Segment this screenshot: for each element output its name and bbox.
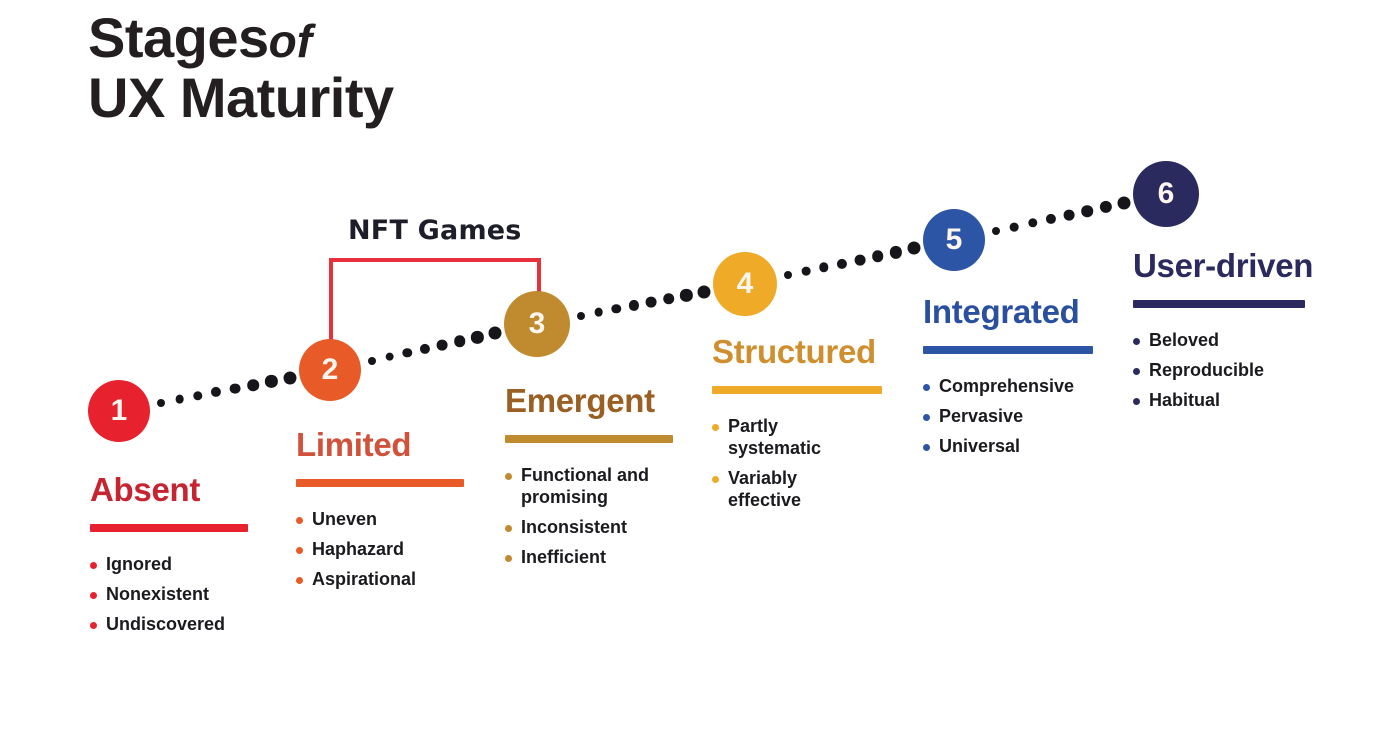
stage-circle-5[interactable]: 5 <box>923 209 985 271</box>
bullet-text: Inefficient <box>521 547 606 567</box>
trend-dot <box>265 375 277 387</box>
stage-rule-6 <box>1133 300 1305 308</box>
infographic-canvas: Stagesof UX Maturity NFT Games 1 2 3 4 5… <box>0 0 1400 740</box>
stage-heading-2: Limited <box>296 428 486 461</box>
trend-dot <box>385 352 394 361</box>
list-item: Partly systematic <box>712 416 840 460</box>
bracket-top-segment <box>329 258 541 262</box>
stage-number-5: 5 <box>946 225 963 255</box>
list-item: Uneven <box>296 509 486 531</box>
trend-dot <box>402 348 411 357</box>
bullet-text: Beloved <box>1149 330 1219 350</box>
trend-dot <box>175 395 184 404</box>
trend-dot <box>802 267 811 276</box>
trend-dot <box>663 293 675 305</box>
stage-heading-3: Emergent <box>505 384 705 417</box>
trend-dot <box>454 335 466 347</box>
stage-rule-3 <box>505 435 673 443</box>
list-item: Ignored <box>90 554 280 576</box>
bullet-text: Haphazard <box>312 539 404 559</box>
bullet-text: Ignored <box>106 554 172 574</box>
stage-block-1: Absent Ignored Nonexistent Undiscovered <box>90 473 280 644</box>
trend-dot <box>1082 205 1094 217</box>
trend-dot <box>420 344 430 354</box>
stage-bullets-5: Comprehensive Pervasive Universal <box>923 376 1123 458</box>
stage-circle-3[interactable]: 3 <box>504 291 570 357</box>
stage-heading-4: Structured <box>712 335 912 368</box>
trend-dot <box>211 387 221 397</box>
stage-block-5: Integrated Comprehensive Pervasive Unive… <box>923 295 1123 466</box>
stage-number-1: 1 <box>111 396 128 426</box>
trend-dot <box>1117 197 1130 210</box>
page-title: Stagesof UX Maturity <box>88 8 648 129</box>
stage-number-4: 4 <box>737 269 754 299</box>
bullet-text: Functional and promising <box>521 465 649 507</box>
stage-block-6: User-driven Beloved Reproducible Habitua… <box>1133 249 1343 420</box>
trend-dot <box>907 242 920 255</box>
list-item: Inefficient <box>505 547 705 569</box>
list-item: Habitual <box>1133 390 1343 412</box>
stage-heading-1: Absent <box>90 473 280 506</box>
trend-dot <box>471 331 483 343</box>
bullet-text: Uneven <box>312 509 377 529</box>
stage-number-3: 3 <box>529 309 546 339</box>
list-item: Comprehensive <box>923 376 1123 398</box>
title-line1-main: Stages <box>88 6 269 69</box>
trend-dot <box>1028 218 1037 227</box>
bullet-text: Variably effective <box>728 468 801 510</box>
stage-rule-4 <box>712 386 882 394</box>
trend-dot <box>247 379 259 391</box>
bullet-text: Universal <box>939 436 1020 456</box>
title-line2: UX Maturity <box>88 68 648 128</box>
bullet-text: Inconsistent <box>521 517 627 537</box>
stage-rule-1 <box>90 524 248 532</box>
stage-block-3: Emergent Functional and promising Incons… <box>505 384 705 577</box>
trend-dot <box>229 383 240 394</box>
stage-bullets-4: Partly systematic Variably effective <box>712 416 912 512</box>
bullet-text: Pervasive <box>939 406 1023 426</box>
bracket-left-leg <box>329 258 333 350</box>
trend-dot <box>157 399 165 407</box>
bullet-text: Nonexistent <box>106 584 209 604</box>
trend-dot <box>819 263 828 272</box>
stage-circle-4[interactable]: 4 <box>713 252 777 316</box>
stage-block-4: Structured Partly systematic Variably ef… <box>712 335 912 520</box>
list-item: Universal <box>923 436 1123 458</box>
bullet-text: Partly systematic <box>728 416 821 458</box>
list-item: Beloved <box>1133 330 1343 352</box>
stage-circle-1[interactable]: 1 <box>88 380 150 442</box>
stage-circle-6[interactable]: 6 <box>1133 161 1199 227</box>
trend-dot <box>855 254 866 265</box>
trend-dot <box>577 312 585 320</box>
bullet-text: Habitual <box>1149 390 1220 410</box>
title-line1-italic: of <box>269 15 312 67</box>
trend-dot <box>611 304 620 313</box>
stage-bullets-1: Ignored Nonexistent Undiscovered <box>90 554 280 636</box>
trend-dot <box>368 357 376 365</box>
bullet-text: Comprehensive <box>939 376 1074 396</box>
bullet-text: Undiscovered <box>106 614 225 634</box>
trend-dot <box>1064 210 1075 221</box>
trend-dot <box>1100 201 1112 213</box>
list-item: Nonexistent <box>90 584 280 606</box>
trend-dot <box>784 271 792 279</box>
trend-dot <box>1046 214 1056 224</box>
list-item: Inconsistent <box>505 517 705 539</box>
stage-circle-2[interactable]: 2 <box>299 339 361 401</box>
stage-heading-5: Integrated <box>923 295 1123 328</box>
stage-bullets-3: Functional and promising Inconsistent In… <box>505 465 705 569</box>
trend-dot <box>697 285 710 298</box>
trend-dot <box>489 327 502 340</box>
list-item: Aspirational <box>296 569 486 591</box>
trend-dot <box>193 391 202 400</box>
trend-dot <box>283 371 296 384</box>
stage-rule-2 <box>296 479 464 487</box>
list-item: Haphazard <box>296 539 486 561</box>
list-item: Variably effective <box>712 468 840 512</box>
stage-number-2: 2 <box>322 355 339 385</box>
stage-block-2: Limited Uneven Haphazard Aspirational <box>296 428 486 599</box>
trend-dot <box>992 227 1000 235</box>
trend-dot <box>629 300 639 310</box>
list-item: Reproducible <box>1133 360 1343 382</box>
nft-games-label: NFT Games <box>348 215 522 246</box>
stage-number-6: 6 <box>1158 179 1175 209</box>
bullet-text: Reproducible <box>1149 360 1264 380</box>
list-item: Undiscovered <box>90 614 280 636</box>
trend-dot <box>1010 223 1019 232</box>
trend-dot <box>437 340 448 351</box>
stage-heading-6: User-driven <box>1133 249 1343 282</box>
bullet-text: Aspirational <box>312 569 416 589</box>
trend-dot <box>594 308 603 317</box>
trend-dot <box>890 246 902 258</box>
list-item: Pervasive <box>923 406 1123 428</box>
list-item: Functional and promising <box>505 465 671 509</box>
trend-dot <box>680 289 692 301</box>
trend-dot <box>837 259 847 269</box>
trend-dot <box>646 297 657 308</box>
stage-bullets-2: Uneven Haphazard Aspirational <box>296 509 486 591</box>
trend-dot <box>872 250 884 262</box>
stage-rule-5 <box>923 346 1093 354</box>
stage-bullets-6: Beloved Reproducible Habitual <box>1133 330 1343 412</box>
